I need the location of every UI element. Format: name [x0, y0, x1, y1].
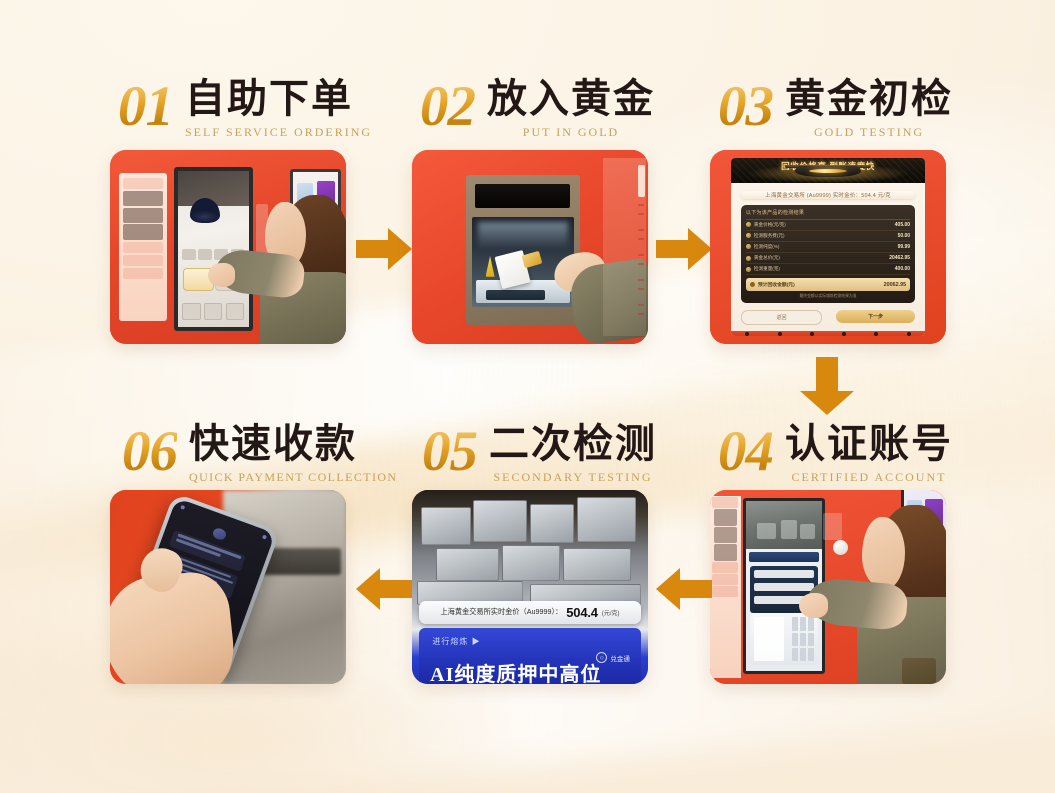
- customer-person: [828, 502, 946, 684]
- instruction-placard: [710, 496, 741, 678]
- arrow-step2-to-step3: [656, 228, 712, 270]
- total-amount-row: 预计回收金额(元) 20062.95: [746, 278, 910, 290]
- step-title-en-06: QUICK PAYMENT COLLECTION: [189, 470, 398, 485]
- input-pad[interactable]: [750, 613, 818, 664]
- row-icon: [746, 233, 751, 238]
- back-button[interactable]: 返回: [741, 310, 822, 325]
- step-heading-03: 03 黄金初检 GOLD TESTING: [718, 78, 953, 140]
- input-field[interactable]: [754, 583, 814, 591]
- step-title-cn-04: 认证账号: [785, 423, 953, 465]
- step-title-en-05: SECONDARY TESTING: [489, 470, 657, 485]
- machine-parts: [412, 490, 648, 610]
- price-value: 504.4: [566, 605, 598, 620]
- arrow-step3-to-step4: [800, 357, 854, 415]
- melting-action-panel: 进行熔炼 ▶ ◇ 兑金通 AI纯度质押中高位: [419, 628, 641, 684]
- account-form-screen[interactable]: [743, 498, 825, 675]
- step-title-cn-06: 快速收款: [189, 423, 398, 465]
- step-heading-06: 06 快速收款 QUICK PAYMENT COLLECTION: [122, 423, 398, 485]
- step-photo-01: [110, 150, 346, 344]
- table-row: 黄金价格(元/克) 405.00: [746, 220, 910, 231]
- step-title-en-02: PUT IN GOLD: [487, 125, 655, 140]
- signature-area[interactable]: [754, 617, 784, 660]
- price-unit: (元/克): [602, 608, 620, 617]
- screen-hero-banner: 回收价格高 到账速度快: [731, 158, 925, 183]
- step-title-cn-05: 二次检测: [489, 423, 657, 465]
- input-field[interactable]: [754, 570, 814, 578]
- table-header: 以下为该产品的检测结果: [746, 209, 910, 220]
- table-row: 检测重量(克) 400.00: [746, 264, 910, 275]
- step-photo-02: [412, 150, 648, 344]
- arrow-step5-to-step6: [356, 568, 412, 610]
- step-number-06: 06: [122, 425, 177, 479]
- step-heading-02: 02 放入黄金 PUT IN GOLD: [420, 78, 655, 140]
- step-title-cn-03: 黄金初检: [785, 78, 953, 120]
- row-icon: [746, 244, 751, 249]
- step-number-01: 01: [118, 80, 173, 134]
- form-titlebar: [749, 552, 818, 562]
- screen-actions: 返回 下一步: [741, 310, 915, 325]
- step-number-05: 05: [422, 425, 477, 479]
- infographic-canvas: 01 自助下单 SELF SERVICE ORDERING 02 放入黄金 PU…: [0, 0, 1055, 793]
- live-gold-price-bar: 上海黄金交易所实时金价（Au9999）： 504.4 (元/克): [419, 601, 641, 624]
- instruction-placard: [119, 173, 166, 320]
- instruction-panel: [603, 158, 645, 336]
- step-number-03: 03: [718, 80, 773, 134]
- step-heading-05: 05 二次检测 SECONDARY TESTING: [422, 423, 657, 485]
- valuation-table: 以下为该产品的检测结果 黄金价格(元/克) 405.00 检测服务费(元) 50…: [741, 205, 915, 303]
- step-heading-04: 04 认证账号 CERTIFIED ACCOUNT: [718, 423, 953, 485]
- screen-footer-lights: [731, 331, 925, 336]
- row-icon: [746, 256, 751, 261]
- deposit-drawer-bay: [466, 175, 579, 324]
- step-title-en-01: SELF SERVICE ORDERING: [185, 125, 372, 140]
- step-photo-04: [710, 490, 946, 684]
- numeric-keypad[interactable]: [792, 617, 814, 660]
- step-title-en-04: CERTIFIED ACCOUNT: [785, 470, 953, 485]
- step-title-en-03: GOLD TESTING: [785, 125, 953, 140]
- customer-person: [233, 185, 346, 344]
- total-icon: [750, 282, 755, 287]
- camera-preview: [746, 501, 822, 549]
- gold-ingot-icon: [809, 169, 848, 173]
- brand-label: 兑金通: [610, 653, 630, 663]
- step-title-cn-02: 放入黄金: [487, 78, 655, 120]
- step-photo-03: 回收价格高 到账速度快 上海黄金交易所 (Au9999) 实时金价：504.4 …: [710, 150, 946, 344]
- step-number-02: 02: [420, 80, 475, 134]
- table-row: 黄金总价(元) 20462.95: [746, 253, 910, 264]
- row-icon: [746, 222, 751, 227]
- step-photo-05: 上海黄金交易所实时金价（Au9999）： 504.4 (元/克) 进行熔炼 ▶ …: [412, 490, 648, 684]
- arrow-step4-to-step5: [656, 568, 712, 610]
- price-label: 上海黄金交易所实时金价（Au9999）：: [440, 607, 562, 617]
- step-title-cn-01: 自助下单: [185, 78, 372, 120]
- row-icon: [746, 267, 751, 272]
- valuation-screen[interactable]: 回收价格高 到账速度快 上海黄金交易所 (Au9999) 实时金价：504.4 …: [731, 158, 925, 336]
- table-row: 检测纯度(%) 99.99: [746, 242, 910, 253]
- drawer-slot: [475, 184, 570, 208]
- arrow-step1-to-step2: [356, 228, 412, 270]
- next-button[interactable]: 下一步: [836, 310, 915, 323]
- live-price-line: 上海黄金交易所 (Au9999) 实时金价：504.4 元/克: [741, 191, 915, 199]
- table-note: 最终金额以实际熔炼检测结果为准: [746, 294, 910, 299]
- table-row: 检测服务费(元) 50.00: [746, 231, 910, 242]
- step-number-04: 04: [718, 425, 773, 479]
- step-heading-01: 01 自助下单 SELF SERVICE ORDERING: [118, 78, 372, 140]
- step-photo-06: [110, 490, 346, 684]
- panel-headline: AI纯度质押中高位: [430, 658, 601, 684]
- melt-action-link[interactable]: 进行熔炼 ▶: [432, 636, 480, 647]
